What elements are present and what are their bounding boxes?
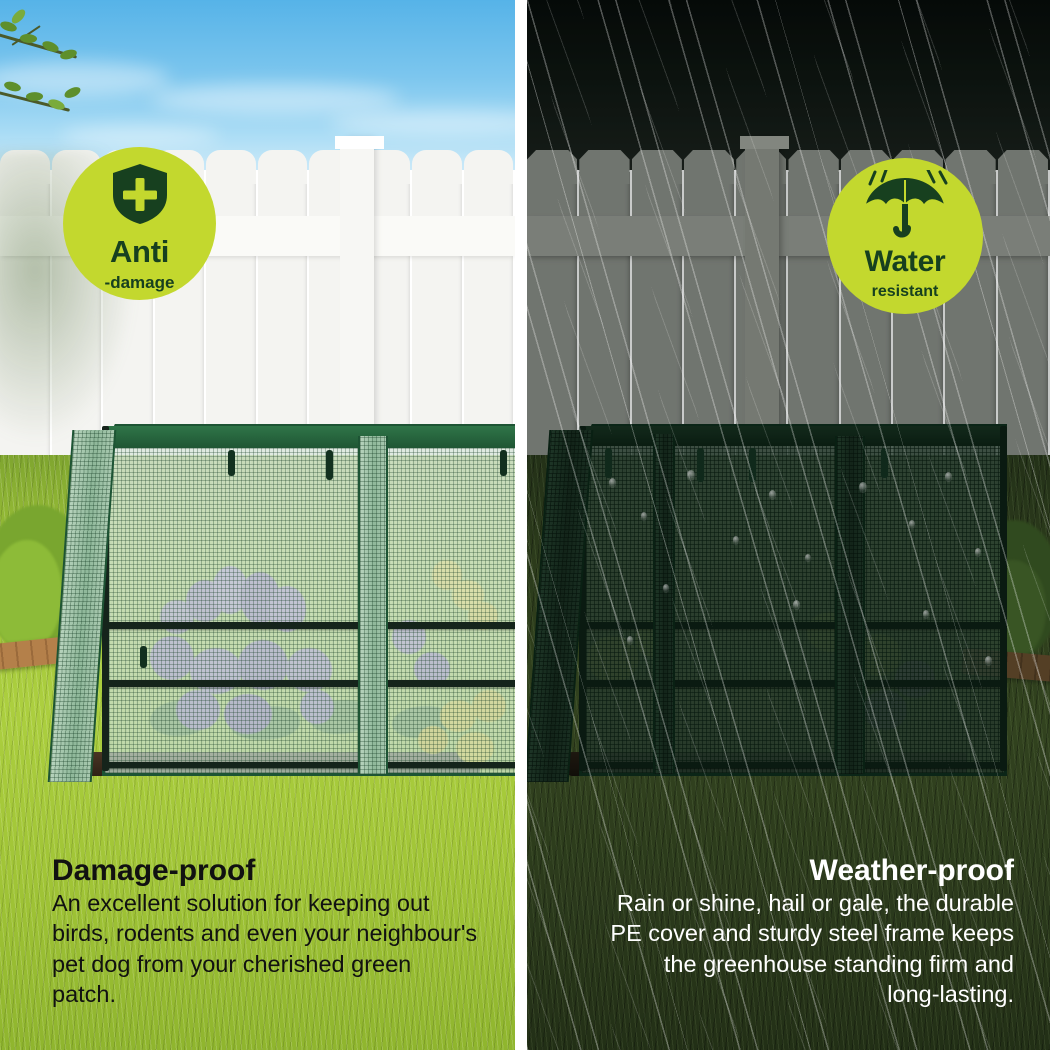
- panel-rain: Water resistant Weather-proof Rain or sh…: [527, 0, 1050, 1050]
- seam-flap: [653, 434, 675, 774]
- zip-pull[interactable]: [326, 450, 333, 480]
- product-feature-image: Anti -damage Damage-proof An excellent s…: [0, 0, 1050, 1050]
- zip-pull[interactable]: [697, 448, 704, 482]
- badge-title: Anti: [110, 236, 169, 267]
- zip-pull[interactable]: [140, 646, 147, 668]
- caption-title: Damage-proof: [52, 855, 482, 887]
- cloud: [150, 84, 400, 114]
- badge-subtitle: resistant: [872, 284, 939, 300]
- zip-pull[interactable]: [605, 448, 612, 478]
- panel-sunny: Anti -damage Damage-proof An excellent s…: [0, 0, 515, 1050]
- caption-weather-proof: Weather-proof Rain or shine, hail or gal…: [574, 855, 1014, 1010]
- cloud: [330, 110, 515, 136]
- tree-branch: [0, 10, 124, 140]
- shield-plus-icon: [111, 163, 169, 230]
- door-flap: [358, 436, 388, 774]
- badge-subtitle: -damage: [105, 274, 175, 291]
- greenhouse-sunny: [60, 424, 515, 776]
- zip-pull[interactable]: [500, 450, 507, 476]
- zip-pull[interactable]: [749, 448, 756, 482]
- scene-rain: Water resistant Weather-proof Rain or sh…: [527, 0, 1050, 1050]
- panel-divider: [515, 0, 527, 1050]
- greenhouse-rain: [537, 424, 1007, 776]
- zip-pull[interactable]: [881, 448, 888, 478]
- caption-title: Weather-proof: [574, 855, 1014, 887]
- badge-title: Water: [865, 247, 946, 277]
- badge-water-resistant: Water resistant: [827, 158, 983, 314]
- scene-sunny: Anti -damage Damage-proof An excellent s…: [0, 0, 515, 1050]
- caption-body: Rain or shine, hail or gale, the durable…: [574, 888, 1014, 1010]
- umbrella-rain-icon: [862, 170, 948, 245]
- zip-pull[interactable]: [228, 450, 235, 476]
- badge-anti-damage: Anti -damage: [63, 147, 216, 300]
- caption-body: An excellent solution for keeping out bi…: [52, 888, 482, 1010]
- caption-damage-proof: Damage-proof An excellent solution for k…: [52, 855, 482, 1010]
